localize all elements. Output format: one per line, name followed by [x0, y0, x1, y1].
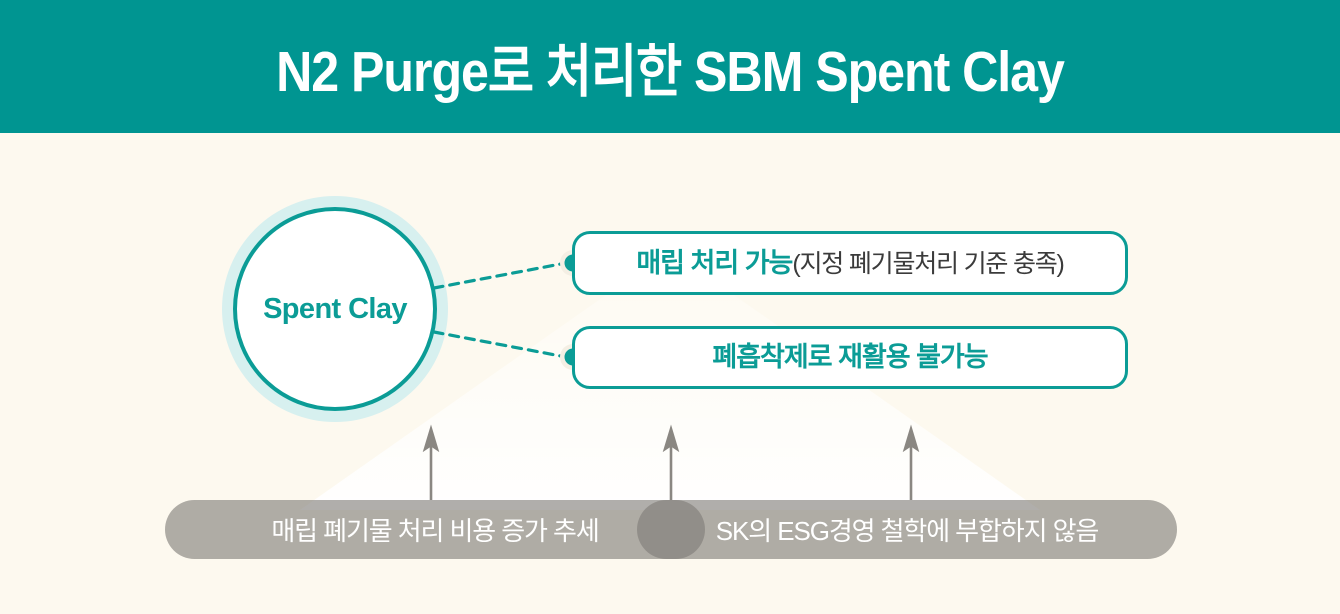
- central-node-circle[interactable]: Spent Clay: [233, 207, 437, 411]
- slide-canvas: N2 Purge로 처리한 SBM Spent Clay Spent Clay …: [0, 0, 1340, 614]
- arrow-head-left: [425, 429, 437, 449]
- driver-pill-cost-label: 매립 폐기물 처리 비용 증가 추세: [271, 511, 598, 548]
- driver-pill-cost-trend[interactable]: 매립 폐기물 처리 비용 증가 추세: [165, 500, 705, 559]
- page-title: N2 Purge로 처리한 SBM Spent Clay: [80, 0, 1259, 133]
- header-band: N2 Purge로 처리한 SBM Spent Clay: [0, 0, 1340, 133]
- connector-line-recycle: [434, 332, 566, 357]
- central-node-label: Spent Clay: [263, 293, 407, 326]
- driver-pill-esg[interactable]: SK의 ESG경영 철학에 부합하지 않음: [637, 500, 1177, 559]
- callout-landfill-text: 매립 처리 가능(지정 폐기물처리 기준 충족): [636, 250, 1063, 277]
- callout-landfill-note: (지정 폐기물처리 기준 충족): [792, 250, 1063, 278]
- arrow-head-right: [905, 429, 917, 449]
- callout-recycle-text: 폐흡착제로 재활용 불가능: [712, 344, 987, 371]
- arrow-head-center: [665, 429, 677, 449]
- callout-landfill-strong: 매립 처리 가능: [636, 248, 792, 278]
- driver-pill-esg-label: SK의 ESG경영 철학에 부합하지 않음: [716, 511, 1098, 548]
- connector-line-landfill: [434, 263, 566, 288]
- callout-recycle-strong: 폐흡착제로 재활용 불가능: [712, 342, 987, 372]
- callout-box-recycle[interactable]: 폐흡착제로 재활용 불가능: [572, 326, 1128, 389]
- callout-box-landfill[interactable]: 매립 처리 가능(지정 폐기물처리 기준 충족): [572, 231, 1128, 295]
